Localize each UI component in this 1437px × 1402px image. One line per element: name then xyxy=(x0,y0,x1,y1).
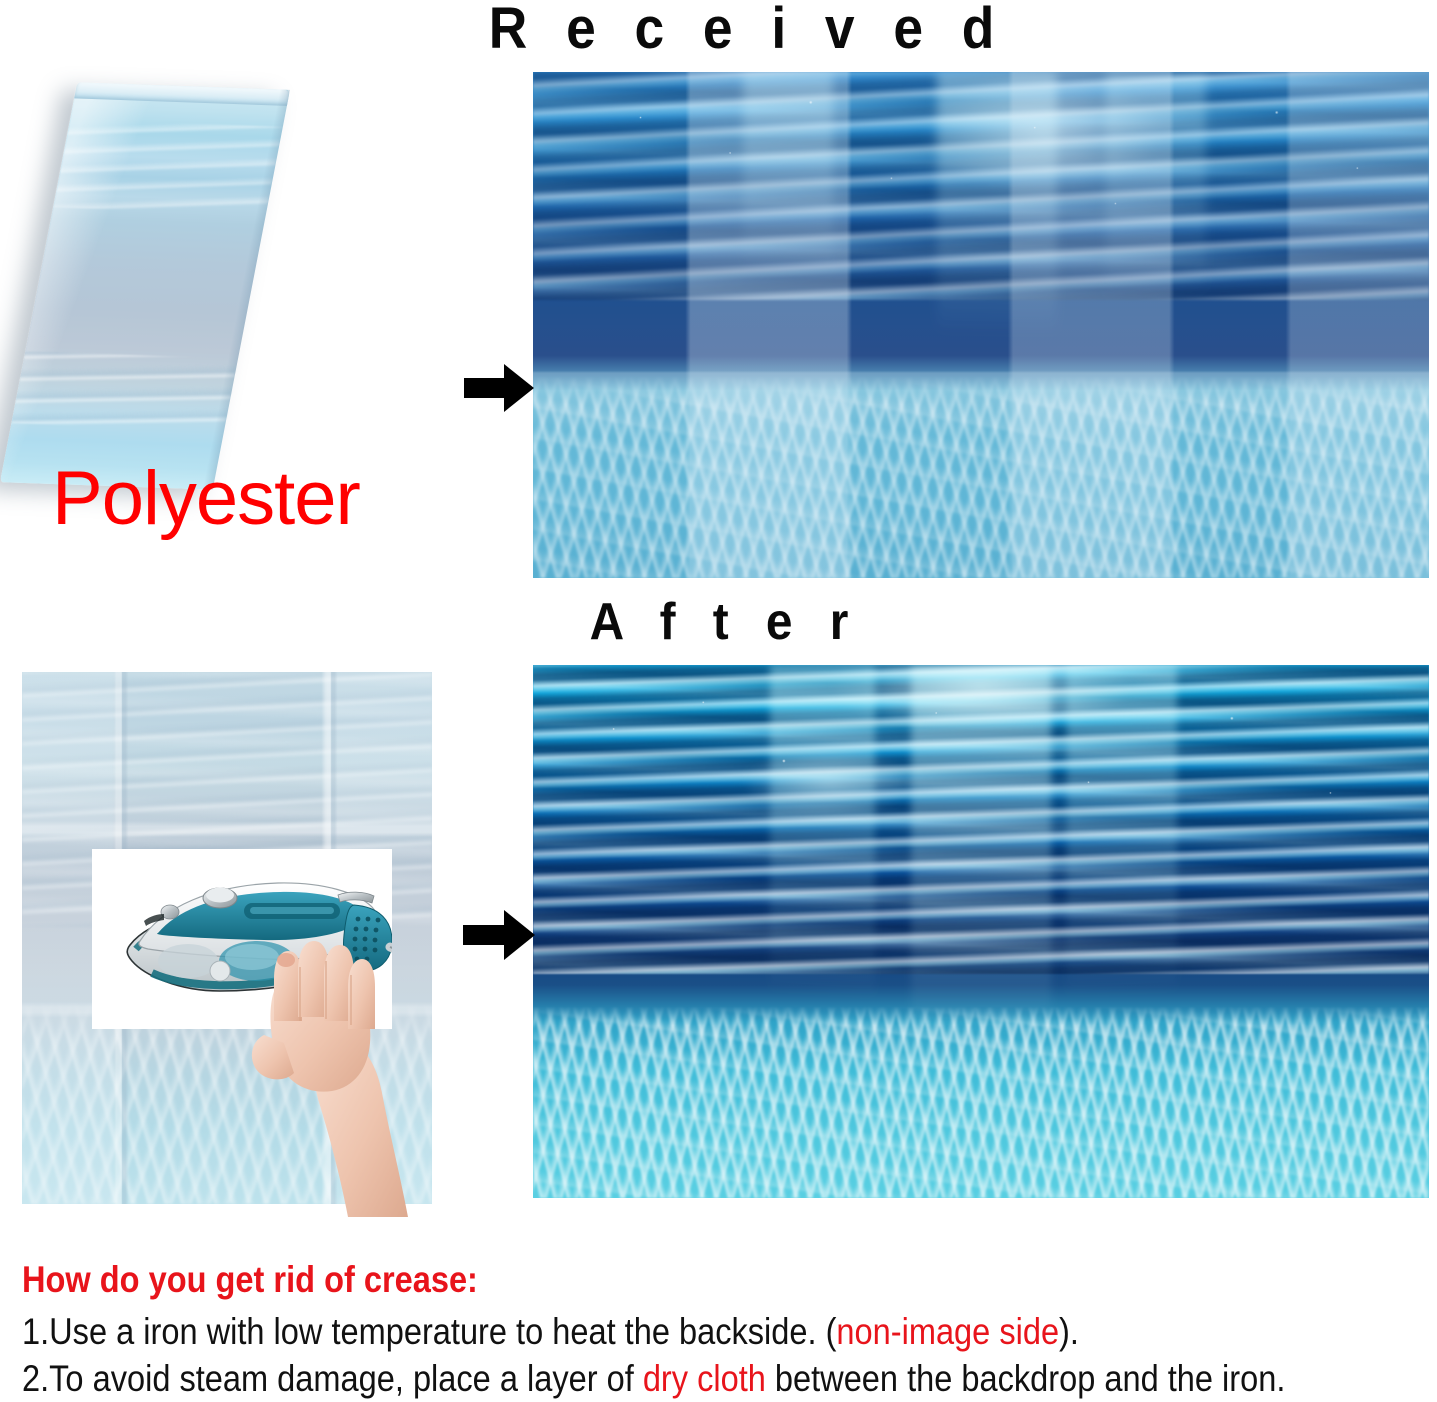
instructions-title: How do you get rid of crease: xyxy=(22,1258,1254,1302)
received-backdrop-photo xyxy=(533,72,1429,578)
instruction-step-1: 1.Use a iron with low temperature to hea… xyxy=(22,1308,1272,1355)
instructions-list: 1.Use a iron with low temperature to hea… xyxy=(22,1308,1272,1402)
folded-fabric-image xyxy=(10,78,430,508)
step1-text-a: 1.Use a iron with low temperature to hea… xyxy=(22,1311,836,1352)
instruction-step-2: 2.To avoid steam damage, place a layer o… xyxy=(22,1355,1272,1402)
fold-creases xyxy=(533,72,1429,578)
iron-photo-card xyxy=(92,849,392,1029)
step2-highlight: dry cloth xyxy=(643,1358,766,1399)
material-label: Polyester xyxy=(52,459,360,539)
bubbles xyxy=(533,665,1429,1198)
received-heading: R e c e i v e d xyxy=(489,0,921,60)
after-backdrop-photo xyxy=(533,665,1429,1198)
hand-icon xyxy=(240,917,430,1217)
step1-text-b: ). xyxy=(1059,1311,1079,1352)
step2-text-a: 2.To avoid steam damage, place a layer o… xyxy=(22,1358,643,1399)
arrow-right-icon xyxy=(462,362,536,414)
step2-text-b: between the backdrop and the iron. xyxy=(766,1358,1286,1399)
step1-highlight: non-image side xyxy=(836,1311,1059,1352)
arrow-right-icon xyxy=(461,908,537,962)
after-heading: A f t e r xyxy=(573,594,877,650)
fabric-roll xyxy=(0,82,290,489)
